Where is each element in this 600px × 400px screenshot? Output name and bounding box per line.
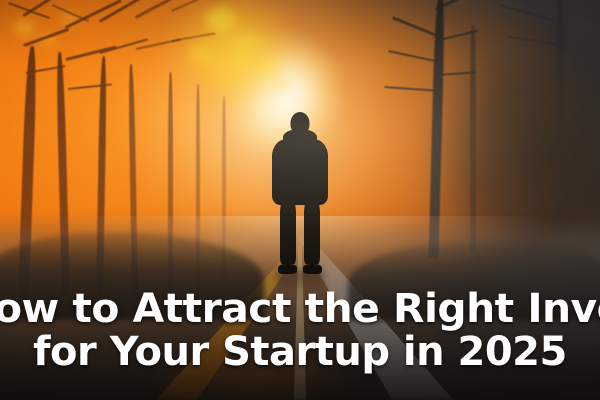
person-silhouette bbox=[270, 112, 330, 298]
person-leg-right bbox=[304, 200, 320, 264]
person-leg-left bbox=[280, 200, 296, 264]
foliage-blob bbox=[14, 20, 34, 36]
foliage-blob bbox=[272, 78, 289, 91]
person-shoe-left bbox=[278, 264, 297, 274]
tree-silhouette-dark bbox=[556, 0, 564, 242]
foliage-blob bbox=[188, 44, 212, 62]
foliage-blob bbox=[236, 34, 262, 54]
person-shoe-right bbox=[303, 264, 322, 274]
foliage-blob bbox=[206, 8, 236, 32]
person-torso bbox=[272, 139, 328, 205]
foliage-blob bbox=[256, 58, 278, 75]
article-header-banner: ow to Attract the Right Investo for Your… bbox=[0, 0, 600, 400]
person-legs bbox=[279, 200, 321, 270]
